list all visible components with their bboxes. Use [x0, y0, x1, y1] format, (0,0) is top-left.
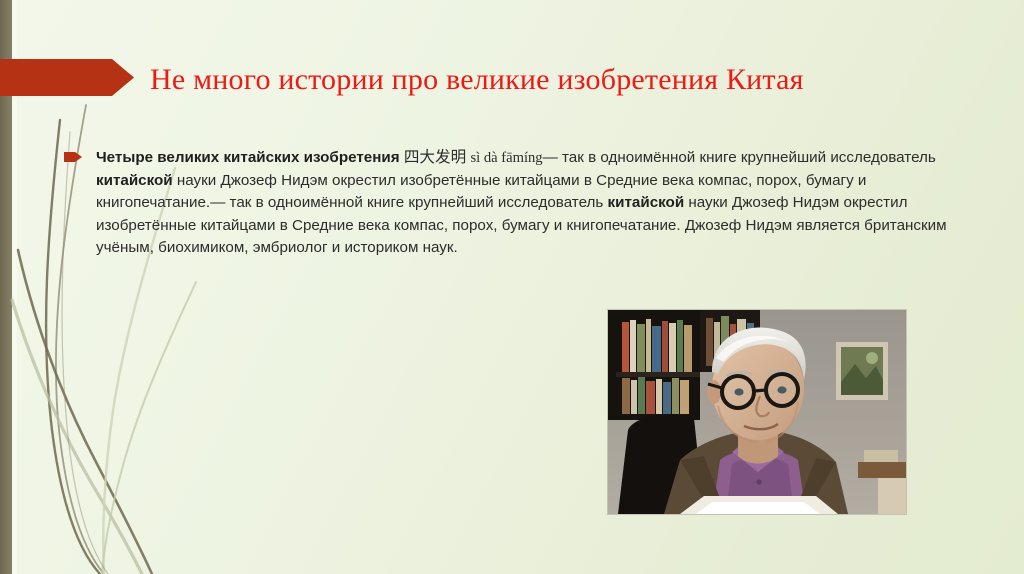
text-segment-1: — так в одноимённой книге крупнейший исс…	[543, 149, 936, 166]
bold-keyword-2: китайской	[608, 194, 685, 211]
lead-bold-text: Четыре великих китайских изобретения	[96, 149, 400, 166]
bullet-list-item: Четыре великих китайских изобретения 四大发…	[62, 146, 952, 260]
page-title: Не много истории про великие изобретения…	[150, 58, 950, 102]
paragraph-text: Четыре великих китайских изобретения 四大发…	[96, 146, 952, 260]
pinyin-text: sì dà fāmíng	[470, 150, 542, 166]
hanzi-text: 四大发明	[404, 148, 466, 166]
content-body: Четыре великих китайских изобретения 四大发…	[62, 146, 952, 260]
slide-canvas: Не много истории про великие изобретения…	[0, 0, 1024, 574]
arrow-banner	[0, 59, 134, 96]
bold-keyword-1: китайской	[96, 172, 173, 189]
portrait-illustration	[608, 310, 906, 514]
arrow-bullet-icon	[64, 151, 82, 163]
portrait-photo	[608, 310, 906, 514]
